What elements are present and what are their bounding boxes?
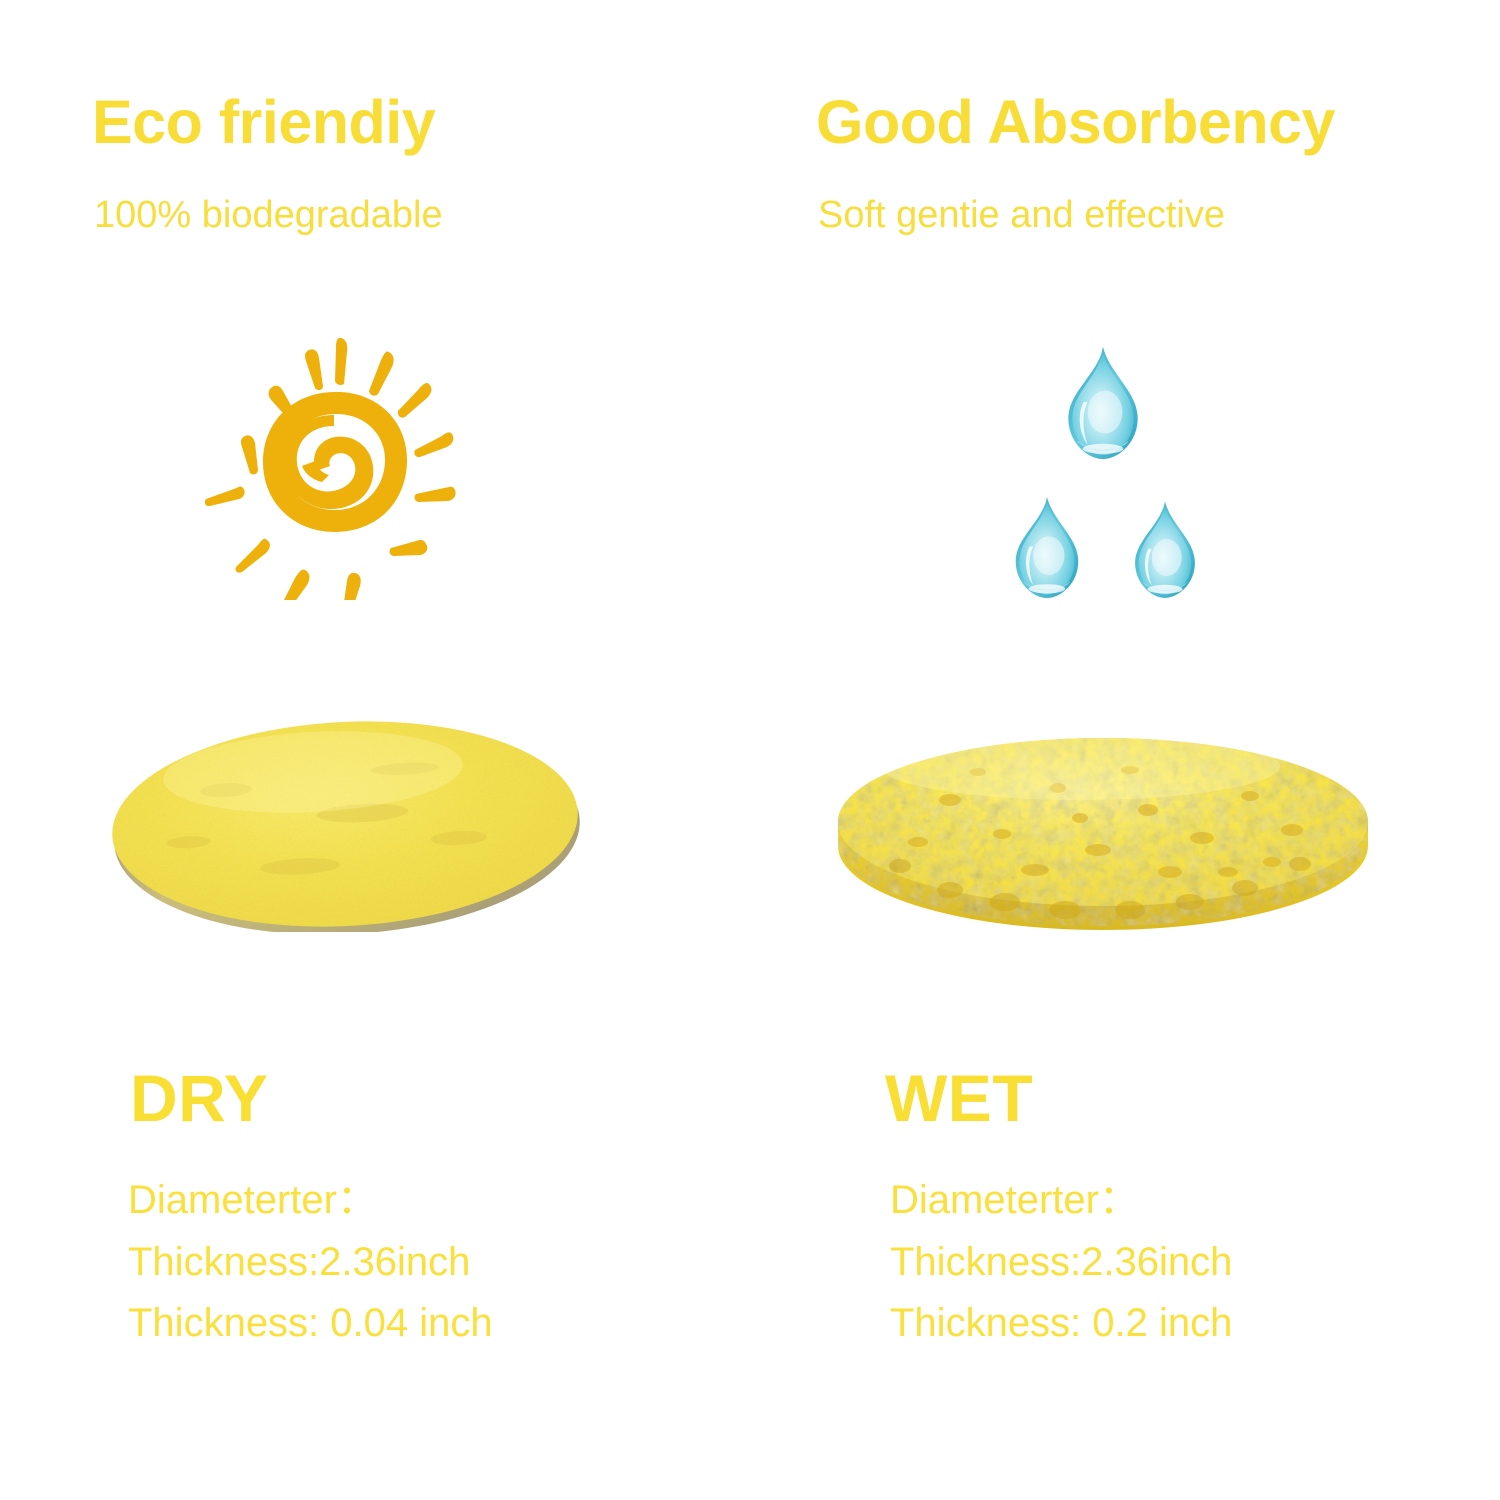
wet-sponge-image bbox=[830, 730, 1375, 948]
dry-spec-diameter: Diameterter： bbox=[128, 1180, 377, 1220]
water-drop-bottom-left bbox=[1016, 497, 1079, 598]
dry-spec-thickness-b: Thickness: 0.04 inch bbox=[128, 1303, 493, 1343]
infographic-canvas: Eco friendiy 100% biodegradable bbox=[0, 0, 1500, 1500]
feature-subtitle-eco-friendly: 100% biodegradable bbox=[94, 196, 443, 234]
water-drop-bottom-right bbox=[1135, 501, 1195, 598]
feature-title-eco-friendly: Eco friendiy bbox=[92, 92, 435, 153]
feature-column-good-absorbency: Good Absorbency Soft gentie and effectiv… bbox=[750, 0, 1500, 1500]
feature-subtitle-good-absorbency: Soft gentie and effective bbox=[818, 196, 1225, 234]
state-label-wet: WET bbox=[885, 1065, 1033, 1131]
wet-spec-thickness-b: Thickness: 0.2 inch bbox=[890, 1303, 1232, 1343]
feature-title-good-absorbency: Good Absorbency bbox=[816, 92, 1335, 153]
sun-icon bbox=[205, 330, 465, 600]
feature-column-eco-friendly: Eco friendiy 100% biodegradable bbox=[0, 0, 750, 1500]
water-drop-top bbox=[1068, 347, 1137, 459]
dry-sponge-image bbox=[108, 714, 582, 932]
state-label-dry: DRY bbox=[130, 1065, 268, 1131]
wet-spec-thickness-a: Thickness:2.36inch bbox=[890, 1242, 1232, 1282]
wet-spec-diameter: Diameterter： bbox=[890, 1180, 1139, 1220]
water-drops-icon bbox=[985, 330, 1225, 630]
dry-spec-thickness-a: Thickness:2.36inch bbox=[128, 1242, 470, 1282]
